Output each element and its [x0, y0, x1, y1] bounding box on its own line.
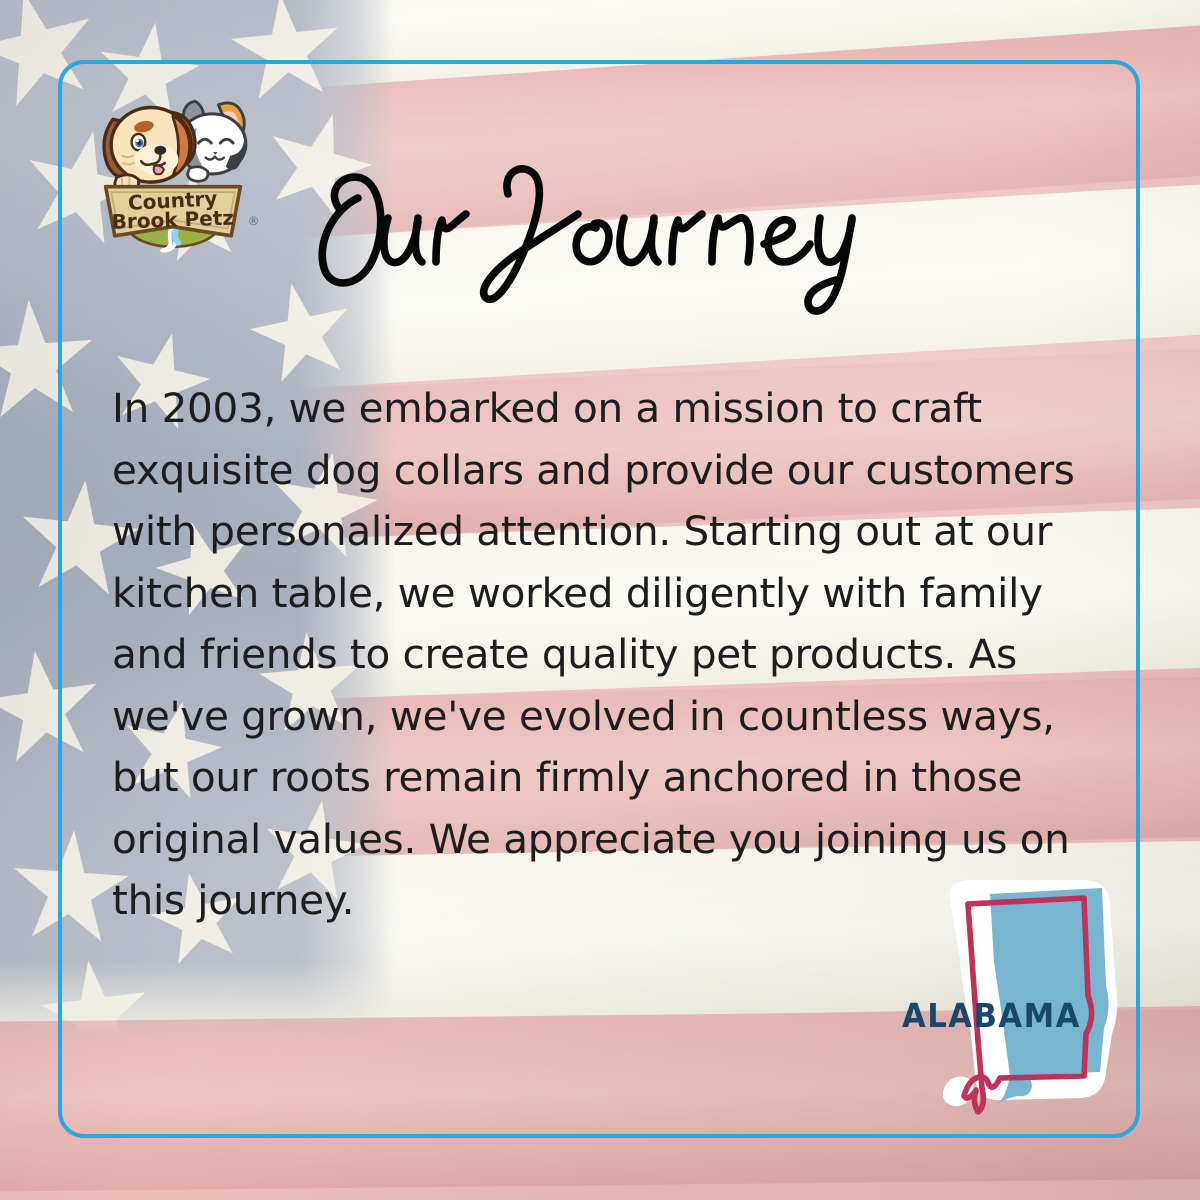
country-brook-petz-logo[interactable]: Country Brook Petz ® [82, 72, 264, 254]
registered-trademark-icon: ® [248, 214, 260, 228]
logo-sign-line2: Brook Petz [111, 206, 234, 234]
state-fill [990, 888, 1109, 1076]
dog-illustration [104, 107, 195, 191]
logo-sign-banner: Country Brook Petz ® [106, 186, 260, 236]
poster-canvas: Country Brook Petz ® [0, 0, 1200, 1200]
body-paragraph: In 2003, we embarked on a mission to cra… [112, 378, 1112, 932]
alabama-state-sticker[interactable]: ALABAMA [906, 866, 1146, 1126]
page-title [296, 152, 916, 322]
